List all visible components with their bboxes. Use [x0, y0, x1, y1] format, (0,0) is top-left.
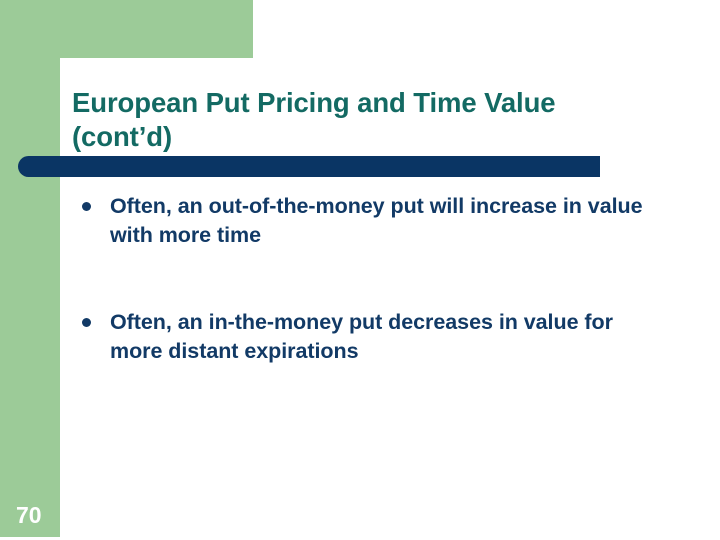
- green-header-block: [0, 0, 253, 58]
- bullet-dot-icon: [80, 308, 110, 337]
- title-underline-rule: [18, 156, 600, 177]
- bullet-list: Often, an out-of-the-money put will incr…: [80, 192, 670, 424]
- list-item-label: Often, an in-the-money put decreases in …: [110, 308, 670, 366]
- list-item: Often, an out-of-the-money put will incr…: [80, 192, 670, 250]
- page-title: European Put Pricing and Time Value (con…: [72, 86, 652, 154]
- list-item-label: Often, an out-of-the-money put will incr…: [110, 192, 670, 250]
- slide-number: 70: [16, 502, 42, 528]
- green-sidebar-band: [0, 0, 60, 537]
- bullet-dot-icon: [80, 192, 110, 221]
- list-item: Often, an in-the-money put decreases in …: [80, 308, 670, 366]
- slide-canvas: European Put Pricing and Time Value (con…: [0, 0, 720, 540]
